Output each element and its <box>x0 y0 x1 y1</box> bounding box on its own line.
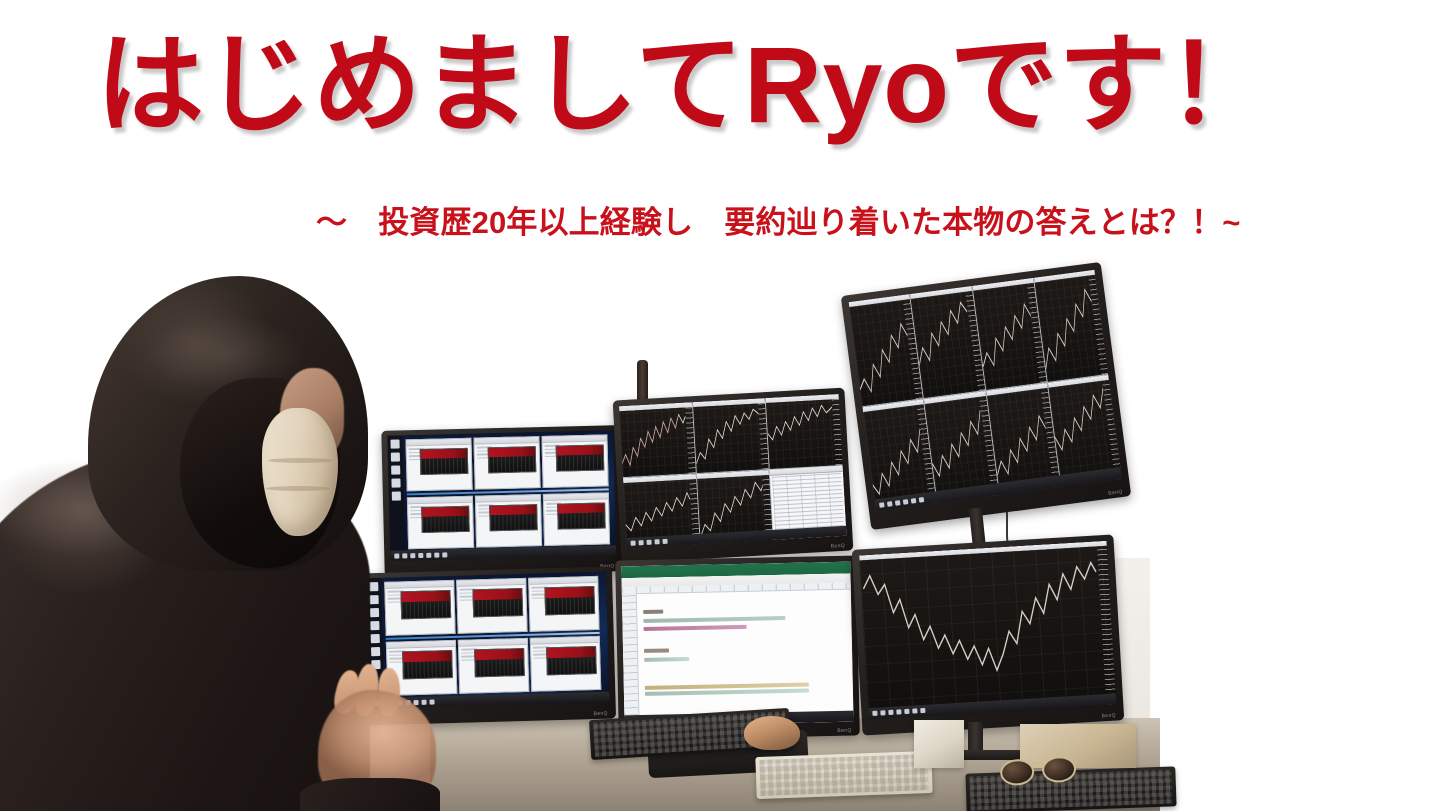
window-titlebar <box>544 493 608 501</box>
taskbar-icon[interactable] <box>418 552 423 557</box>
chart-thumbnail <box>402 650 453 679</box>
monitor-screen <box>621 562 853 727</box>
taskbar-dock <box>387 435 405 550</box>
window-titlebar <box>385 581 453 589</box>
price-line <box>859 546 1106 719</box>
price-line <box>619 408 688 477</box>
browser-window[interactable] <box>528 576 599 632</box>
taskbar-icon[interactable] <box>662 538 667 543</box>
data-bar <box>645 688 810 695</box>
chart-panel[interactable] <box>619 402 695 476</box>
window-titlebar <box>408 497 472 505</box>
taskbar-icon[interactable] <box>872 711 877 716</box>
taskbar-icon[interactable] <box>919 497 925 503</box>
window-row <box>405 434 608 491</box>
thumbnail-chart <box>475 659 523 676</box>
taskbar-icon[interactable] <box>887 501 893 507</box>
window-row <box>407 492 610 549</box>
monitor-screen <box>619 394 847 548</box>
monitor-top-center: BenQ <box>613 388 854 564</box>
dock-icon[interactable] <box>370 595 379 604</box>
face-mask-pleat <box>266 486 330 491</box>
sunglasses <box>999 754 1073 785</box>
window-titlebar <box>457 579 525 587</box>
monitor-bottom-right: BenQ <box>852 534 1125 735</box>
page-title: はじめましてRyoです！ <box>96 22 1356 147</box>
taskbar-icon[interactable] <box>912 708 917 713</box>
taskbar-icon[interactable] <box>426 552 431 557</box>
chart-thumbnail <box>420 448 469 475</box>
taskbar-icon[interactable] <box>638 540 643 545</box>
trading-desk-photo: BenQ <box>0 258 1437 811</box>
window-row <box>386 636 601 696</box>
chart-thumbnail <box>557 502 606 529</box>
monitor-screen <box>387 430 616 560</box>
thumbnail-chart <box>547 657 595 674</box>
browser-window[interactable] <box>405 438 472 492</box>
price-line <box>693 403 762 472</box>
chart-thumbnail <box>488 446 537 473</box>
thumbnail-chart <box>421 458 467 474</box>
taskbar-icon[interactable] <box>402 553 407 558</box>
hoodie-sleeve-cuff <box>300 778 440 811</box>
chart-panel[interactable] <box>692 398 768 472</box>
monitor-screen <box>366 572 610 709</box>
row-headers <box>622 593 639 715</box>
taskbar-icon[interactable] <box>911 498 917 504</box>
taskbar-icon[interactable] <box>903 499 909 505</box>
monitor-top-right: BenQ <box>841 262 1132 530</box>
sunglasses-lens-left <box>999 758 1035 786</box>
price-line <box>766 399 835 468</box>
browser-window[interactable] <box>475 494 542 548</box>
dock-icon[interactable] <box>370 621 379 630</box>
data-bar <box>643 610 664 614</box>
dock-icon[interactable] <box>371 647 380 656</box>
chart-panel[interactable] <box>766 394 842 468</box>
dock-icon[interactable] <box>391 452 400 461</box>
dock-icon[interactable] <box>369 582 378 591</box>
window-titlebar <box>387 641 455 649</box>
chart-thumbnail <box>421 506 470 533</box>
browser-window[interactable] <box>456 578 527 634</box>
dock-icon[interactable] <box>392 491 401 500</box>
taskbar-icon[interactable] <box>646 539 651 544</box>
monitor-top-left: BenQ <box>381 425 622 577</box>
window-titlebar <box>406 439 470 447</box>
taskbar-icon[interactable] <box>442 552 447 557</box>
taskbar-icon[interactable] <box>888 710 893 715</box>
thumbnail-chart <box>403 661 451 678</box>
keyboard-secondary[interactable] <box>755 751 932 799</box>
dock-icon[interactable] <box>370 608 379 617</box>
box-left <box>914 720 964 768</box>
face-mask-pleat <box>268 458 332 463</box>
thumbnail-chart <box>422 516 468 532</box>
sunglasses-lens-right <box>1041 755 1077 783</box>
keyboard-keys <box>759 754 928 796</box>
data-bar <box>643 625 746 631</box>
browser-window[interactable] <box>407 496 474 550</box>
thumbnail-chart <box>474 599 522 616</box>
thumbnail-chart <box>489 456 535 472</box>
taskbar-icon[interactable] <box>630 540 635 545</box>
browser-window[interactable] <box>541 434 608 488</box>
thumbnail-chart <box>490 514 536 530</box>
monitor-brand-label: BenQ <box>1101 713 1116 720</box>
taskbar-icon[interactable] <box>904 709 909 714</box>
taskbar-icon[interactable] <box>394 553 399 558</box>
window-titlebar <box>529 577 597 585</box>
taskbar-icon[interactable] <box>421 699 426 704</box>
data-bar <box>644 657 690 662</box>
mouse[interactable] <box>744 716 800 750</box>
chart-thumbnail <box>544 586 595 615</box>
chart-thumbnail <box>556 444 605 471</box>
chart-panel-grid <box>619 394 847 548</box>
dock-icon[interactable] <box>391 465 400 474</box>
taskbar-icon[interactable] <box>879 502 885 508</box>
thumbnail-chart <box>558 513 604 529</box>
page-subtitle: ～ 投資歴20年以上経験し 要約辿り着いた本物の答えとは？！~ <box>316 203 1426 243</box>
dock-icon[interactable] <box>390 439 399 448</box>
taskbar-icon[interactable] <box>429 699 434 704</box>
browser-window[interactable] <box>530 636 601 692</box>
chart-panel[interactable] <box>859 541 1116 719</box>
thumbnail-chart <box>546 597 594 614</box>
slide-root: はじめましてRyoです！ ～ 投資歴20年以上経験し 要約辿り着いた本物の答えと… <box>0 0 1437 811</box>
taskbar-icon[interactable] <box>920 708 925 713</box>
dock-icon[interactable] <box>391 478 400 487</box>
monitor-brand-label: BenQ <box>831 543 846 550</box>
monitor-screen <box>849 270 1122 512</box>
window-titlebar <box>531 637 599 645</box>
monitor-brand-label: BenQ <box>837 728 852 734</box>
taskbar-icon[interactable] <box>896 709 901 714</box>
spreadsheet-app[interactable] <box>621 562 853 727</box>
chart-thumbnail <box>489 504 538 531</box>
spreadsheet-grid[interactable] <box>622 589 853 715</box>
browser-window[interactable] <box>473 436 540 490</box>
taskbar-icon[interactable] <box>654 539 659 544</box>
taskbar-icon[interactable] <box>895 500 901 506</box>
data-bar <box>643 616 785 623</box>
chart-thumbnail <box>474 648 525 677</box>
browser-window[interactable] <box>458 638 529 694</box>
monitor-brand-label: BenQ <box>593 711 608 717</box>
taskbar-icon[interactable] <box>434 552 439 557</box>
chart-thumbnail <box>546 646 597 675</box>
chart-thumbnail <box>400 590 451 619</box>
window-titlebar <box>542 435 606 443</box>
window-titlebar <box>476 495 540 503</box>
window-titlebar <box>474 437 538 445</box>
browser-window[interactable] <box>543 492 610 546</box>
dock-icon[interactable] <box>371 634 380 643</box>
browser-window[interactable] <box>384 580 455 636</box>
window-titlebar <box>459 639 527 647</box>
window-row <box>384 576 599 636</box>
thumbnail-chart <box>557 455 603 471</box>
taskbar-icon[interactable] <box>880 710 885 715</box>
data-bar <box>644 649 669 654</box>
thumbnail-chart <box>402 601 450 618</box>
taskbar-icon[interactable] <box>413 699 418 704</box>
taskbar-icon[interactable] <box>410 553 415 558</box>
chart-thumbnail <box>472 588 523 617</box>
monitor-screen <box>859 541 1116 719</box>
